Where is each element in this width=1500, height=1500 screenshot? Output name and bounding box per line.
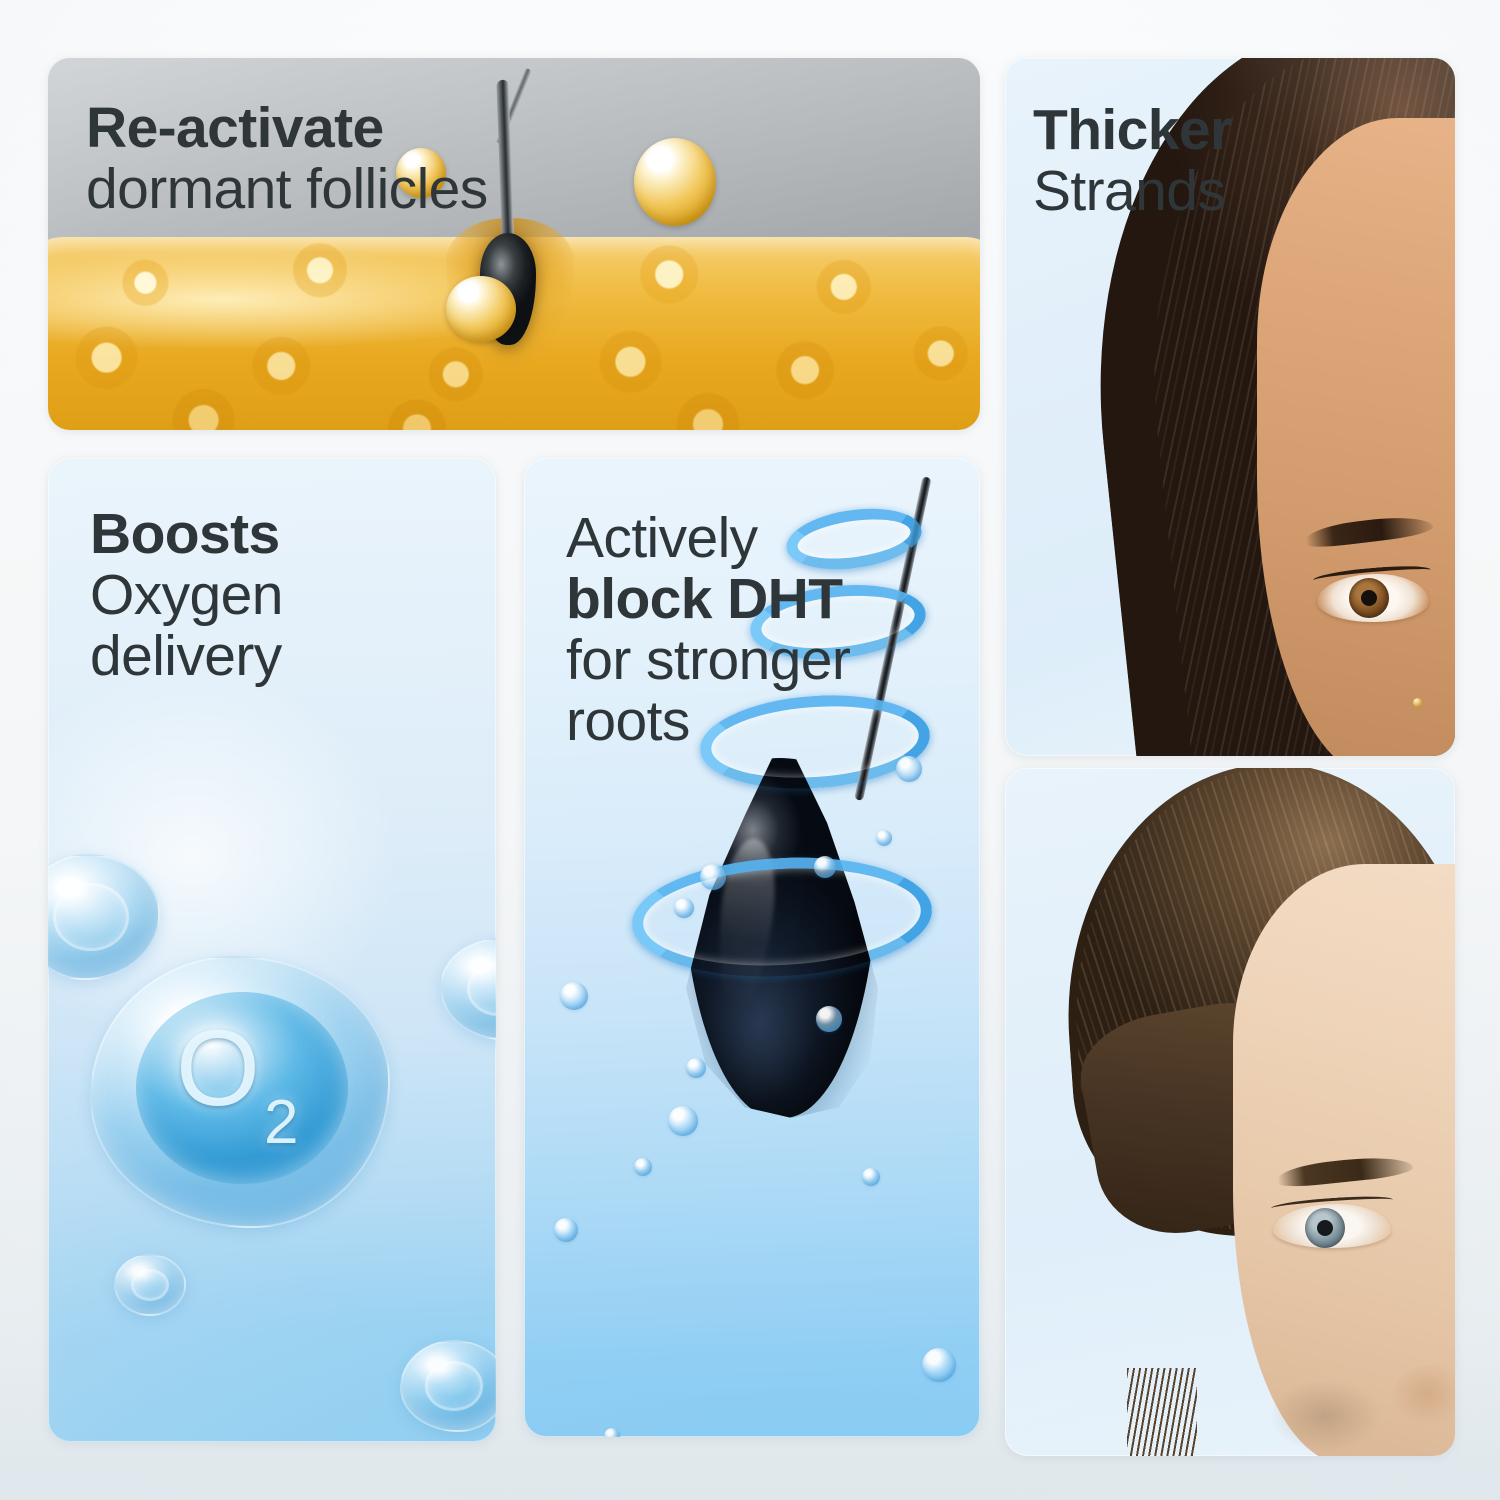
- o2-subscript: 2: [264, 1092, 298, 1154]
- water-bubble-icon: [700, 864, 726, 890]
- water-bubble-icon: [560, 982, 588, 1010]
- heading-line-2: block DHT: [566, 569, 850, 630]
- o2-molecule-label: O 2: [176, 1014, 366, 1164]
- water-bubble-icon: [814, 856, 836, 878]
- man-pupil: [1317, 1220, 1333, 1236]
- oil-droplet-large-icon: [634, 138, 716, 226]
- infographic-board: Re-activate dormant follicles O 2 Boosts…: [0, 0, 1500, 1500]
- bubble-ring: [131, 1269, 169, 1301]
- woman-nose-piercing: [1413, 698, 1422, 707]
- panel-boosts-oxygen: O 2 Boosts Oxygen delivery: [48, 458, 496, 1442]
- panel-reactivate-follicles: Re-activate dormant follicles: [48, 58, 980, 430]
- woman-pupil: [1361, 590, 1377, 606]
- panel-thicker-strands: Thicker Strands: [1005, 58, 1455, 756]
- water-bubble-icon: [876, 830, 892, 846]
- heading-line-3: for stronger: [566, 630, 850, 691]
- heading-line-1: Boosts: [90, 504, 283, 565]
- panel-heading-thicker-strands: Thicker Strands: [1033, 100, 1232, 222]
- heading-line-1: Actively: [566, 508, 850, 569]
- water-bubble-icon: [554, 1218, 578, 1242]
- woman-face: [1257, 118, 1455, 756]
- water-bubble-icon: [668, 1106, 698, 1136]
- heading-line-1: Thicker: [1033, 100, 1232, 161]
- water-helix-ring: [629, 850, 935, 984]
- oil-droplet-medium-icon: [446, 276, 516, 342]
- heading-line-2: dormant follicles: [86, 159, 488, 220]
- panel-heading-boosts-oxygen: Boosts Oxygen delivery: [90, 504, 283, 687]
- bubble-ring: [467, 962, 496, 1017]
- water-bubble-icon: [634, 1158, 652, 1176]
- man-sideburn: [1127, 1368, 1197, 1456]
- heading-line-1: Re-activate: [86, 98, 488, 159]
- heading-line-2: Strands: [1033, 161, 1232, 222]
- water-bubble-icon: [674, 898, 694, 918]
- water-bubble-icon: [686, 1058, 706, 1078]
- panel-man-photo: [1005, 768, 1455, 1456]
- water-bubble-icon: [400, 1340, 496, 1432]
- bubble-ring: [425, 1361, 483, 1410]
- bubble-ring: [53, 883, 128, 951]
- panel-heading-reactivate: Re-activate dormant follicles: [86, 98, 488, 220]
- o2-letter: O: [176, 1014, 260, 1122]
- man-stubble: [1273, 1374, 1403, 1456]
- water-bubble-icon: [604, 1428, 620, 1437]
- panel-heading-block-dht: Actively block DHT for stronger roots: [566, 508, 850, 752]
- water-bubble-icon: [862, 1168, 880, 1186]
- water-bubble-icon: [896, 756, 922, 782]
- water-bubble-icon: [114, 1254, 186, 1316]
- water-bubble-icon: [922, 1348, 956, 1382]
- panel-block-dht: Actively block DHT for stronger roots: [524, 458, 980, 1437]
- heading-line-3: delivery: [90, 626, 283, 687]
- water-bubble-icon: [816, 1006, 842, 1032]
- heading-line-4: roots: [566, 691, 850, 752]
- heading-line-2: Oxygen: [90, 565, 283, 626]
